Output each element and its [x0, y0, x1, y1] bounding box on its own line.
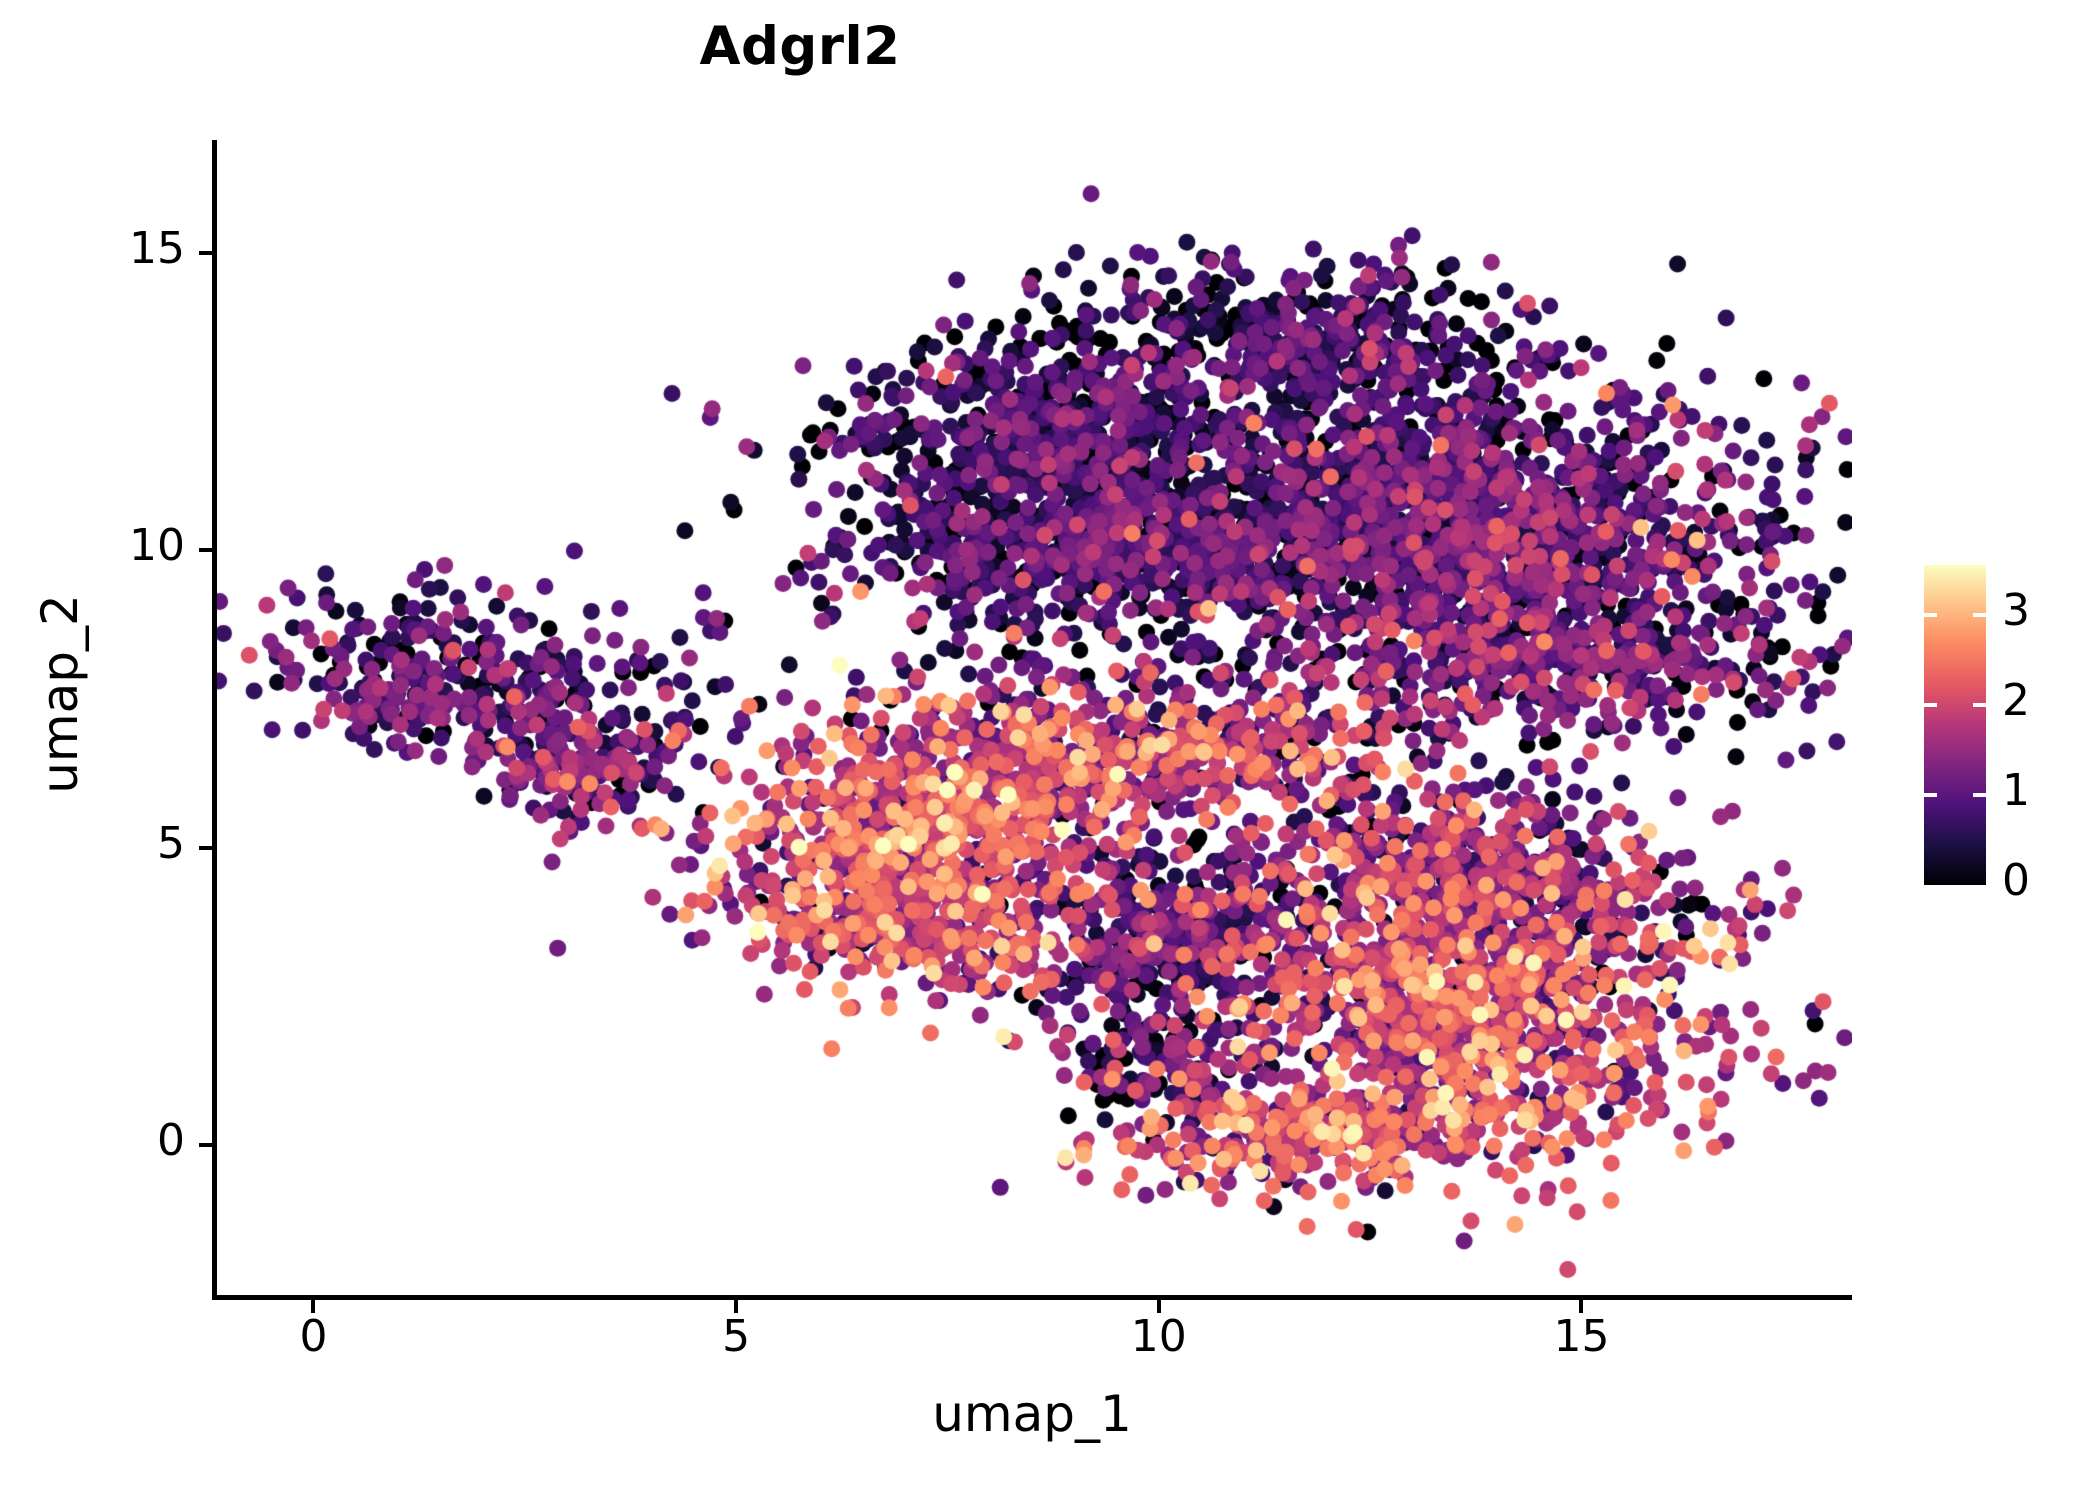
colorbar: 3210 — [1924, 565, 2084, 890]
colorbar-tick-label: 0 — [2002, 859, 2030, 903]
y-tick-label: 10 — [129, 524, 185, 568]
colorbar-tick-right — [1973, 793, 1986, 797]
scatter-plot-axes — [212, 140, 1852, 1300]
y-tick-mark — [199, 846, 212, 850]
colorbar-tick-left — [1924, 613, 1937, 617]
y-tick-mark — [199, 251, 212, 255]
colorbar-tick-label: 3 — [2002, 589, 2030, 633]
scatter-point-layer — [212, 140, 1852, 1300]
x-tick-label: 10 — [1099, 1315, 1219, 1359]
y-tick-mark — [199, 548, 212, 552]
page-title: Adgrl2 — [0, 16, 1600, 77]
x-axis-spine — [212, 1295, 1852, 1300]
x-tick-label: 0 — [253, 1315, 373, 1359]
y-axis-label: umap_2 — [31, 414, 89, 974]
y-axis-spine — [212, 140, 217, 1300]
x-tick-label: 5 — [676, 1315, 796, 1359]
colorbar-tick-label: 2 — [2002, 679, 2030, 723]
colorbar-tick-right — [1973, 703, 1986, 707]
y-tick-mark — [199, 1143, 212, 1147]
colorbar-tick-label: 1 — [2002, 769, 2030, 813]
figure-canvas: Adgrl2 051015 051015 umap_1 umap_2 3210 — [0, 0, 2100, 1500]
y-tick-label: 0 — [157, 1119, 185, 1163]
colorbar-tick-right — [1973, 613, 1986, 617]
y-tick-label: 5 — [157, 822, 185, 866]
colorbar-tick-left — [1924, 703, 1937, 707]
x-axis-label: umap_1 — [212, 1385, 1852, 1443]
x-tick-label: 15 — [1521, 1315, 1641, 1359]
y-tick-label: 15 — [129, 227, 185, 271]
colorbar-tick-left — [1924, 793, 1937, 797]
